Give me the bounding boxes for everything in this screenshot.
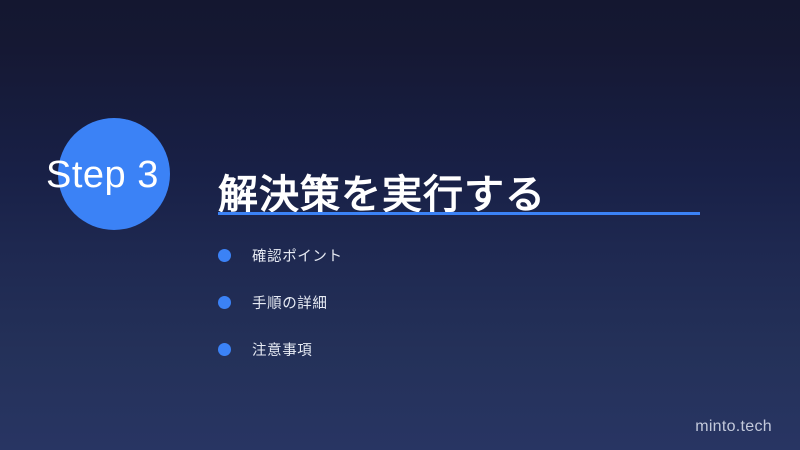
bullet-item-label: 手順の詳細 xyxy=(252,292,328,313)
list-item: 注意事項 xyxy=(218,326,688,373)
bullet-dot-icon xyxy=(218,249,231,262)
bullet-item-label: 注意事項 xyxy=(252,339,312,360)
bullet-dot-icon xyxy=(218,296,231,309)
bullet-dot-icon xyxy=(218,343,231,356)
step-badge-label: Step 3 xyxy=(46,151,226,199)
title-divider xyxy=(218,212,700,215)
list-item: 手順の詳細 xyxy=(218,279,688,326)
bullet-item-label: 確認ポイント xyxy=(252,245,343,266)
presentation-slide: Step 3 解決策を実行する 確認ポイント 手順の詳細 注意事項 minto.… xyxy=(0,0,800,450)
list-item: 確認ポイント xyxy=(218,232,688,279)
bullet-list: 確認ポイント 手順の詳細 注意事項 xyxy=(218,232,688,373)
footer-watermark: minto.tech xyxy=(695,418,772,436)
